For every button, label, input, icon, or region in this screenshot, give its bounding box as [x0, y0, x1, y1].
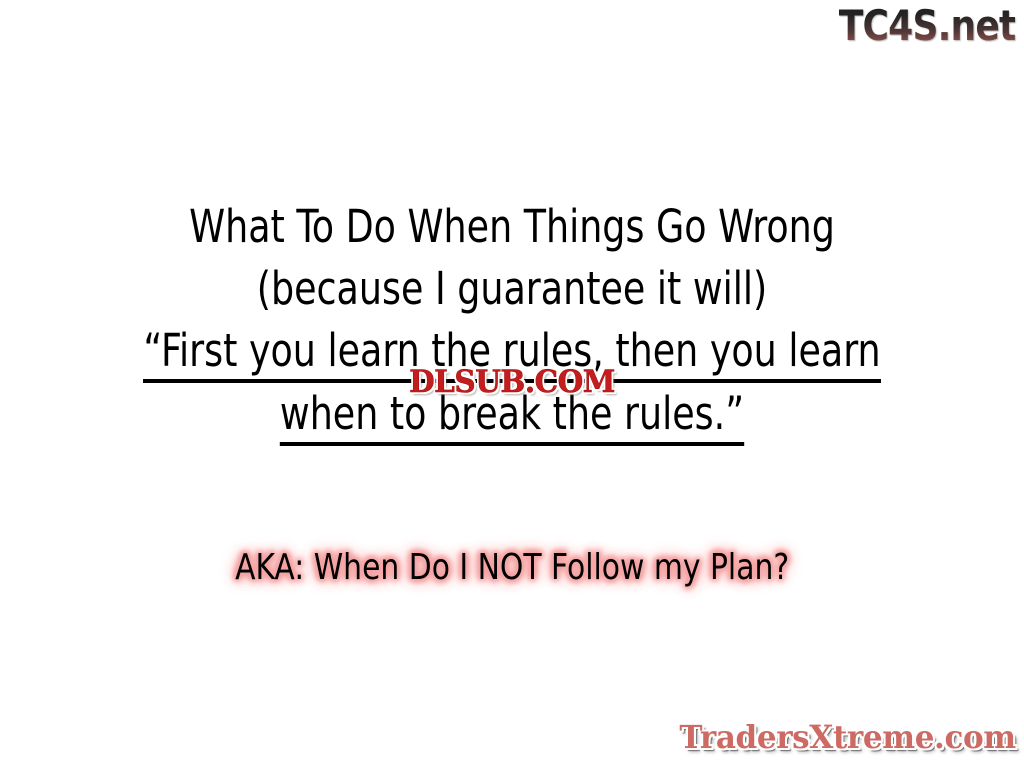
body-line-2-text: (because I guarantee it will) [257, 262, 768, 315]
slide-body-text: What To Do When Things Go Wrong (because… [0, 196, 1024, 446]
slide-canvas: TC4S.net What To Do When Things Go Wrong… [0, 0, 1024, 768]
body-line-2: (because I guarantee it will) [51, 258, 973, 320]
body-line-1: What To Do When Things Go Wrong [51, 196, 973, 258]
aka-question-text: AKA: When Do I NOT Follow my Plan? [235, 545, 789, 591]
tc4s-brand-logo: TC4S.net [838, 2, 1015, 50]
body-line-1-text: What To Do When Things Go Wrong [189, 200, 835, 253]
tradersxtreme-brand-logo: TradersXtreme.com [680, 718, 1016, 756]
aka-question-line: AKA: When Do I NOT Follow my Plan? [0, 545, 1024, 591]
dlsub-watermark: DLSUB.COM [409, 366, 615, 399]
